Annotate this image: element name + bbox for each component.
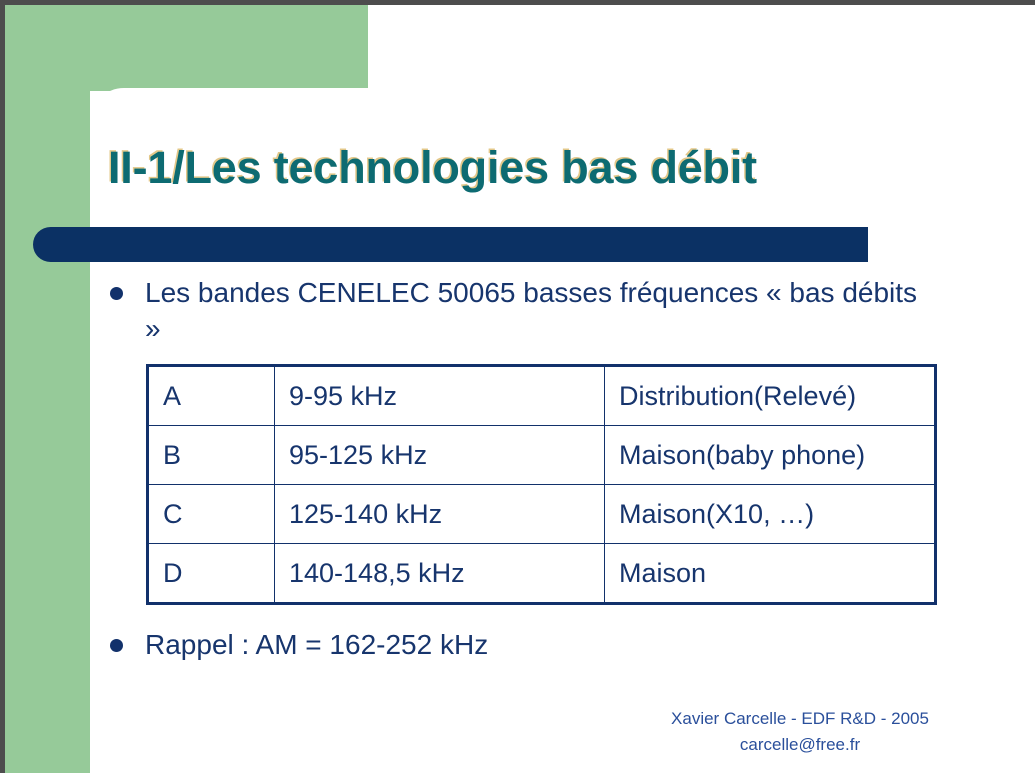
bullet-item-label: Les bandes CENELEC 50065 basses fréquenc…	[145, 275, 935, 347]
slide-title: II-1/Les technologies bas débit	[108, 142, 988, 194]
bullet-dot-icon	[110, 287, 123, 300]
title-underline-bar	[33, 227, 868, 262]
cell-band: D	[148, 544, 275, 604]
footer-email-line: carcelle@free.fr	[600, 732, 1000, 758]
table-row: B 95-125 kHz Maison(baby phone)	[148, 426, 936, 485]
cell-usage: Maison(baby phone)	[605, 426, 936, 485]
bullet-item-cenelec: Les bandes CENELEC 50065 basses fréquenc…	[110, 275, 935, 347]
slide-frame-top	[0, 0, 1035, 5]
green-decoration-sidebar	[5, 3, 90, 773]
slide-footer: Xavier Carcelle - EDF R&D - 2005 carcell…	[600, 706, 1000, 757]
cell-band: C	[148, 485, 275, 544]
table-row: C 125-140 kHz Maison(X10, …)	[148, 485, 936, 544]
cell-usage: Maison	[605, 544, 936, 604]
cell-range: 140-148,5 kHz	[275, 544, 605, 604]
cell-band: A	[148, 366, 275, 426]
footer-author-line: Xavier Carcelle - EDF R&D - 2005	[600, 706, 1000, 732]
cell-band: B	[148, 426, 275, 485]
table-row: A 9-95 kHz Distribution(Relevé)	[148, 366, 936, 426]
cell-usage: Distribution(Relevé)	[605, 366, 936, 426]
cell-usage: Maison(X10, …)	[605, 485, 936, 544]
presentation-slide: II-1/Les technologies bas débit Les band…	[0, 0, 1035, 773]
cell-range: 125-140 kHz	[275, 485, 605, 544]
cell-range: 9-95 kHz	[275, 366, 605, 426]
slide-frame-left	[0, 0, 5, 773]
bullet-item-rappel: Rappel : AM = 162-252 kHz	[110, 627, 488, 663]
bullet-item-label: Rappel : AM = 162-252 kHz	[145, 627, 488, 663]
cenelec-bands-table: A 9-95 kHz Distribution(Relevé) B 95-125…	[146, 364, 937, 605]
table-row: D 140-148,5 kHz Maison	[148, 544, 936, 604]
cell-range: 95-125 kHz	[275, 426, 605, 485]
bullet-dot-icon	[110, 639, 123, 652]
